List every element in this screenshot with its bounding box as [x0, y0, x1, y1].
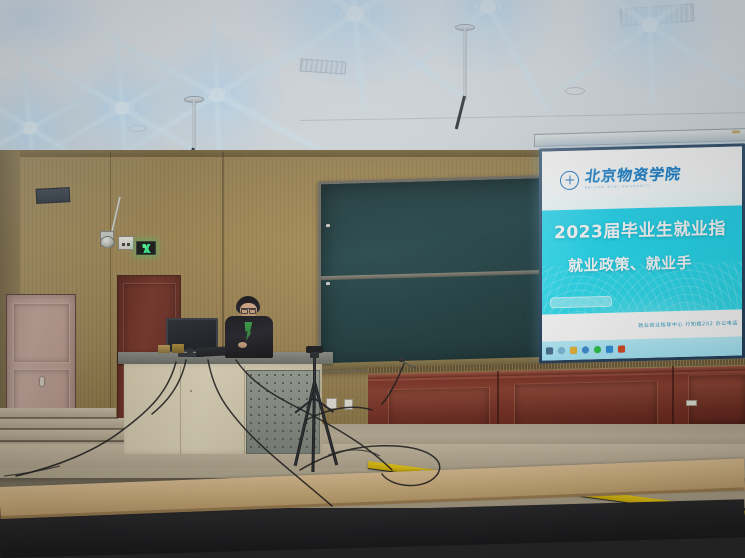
lecture-hall-photo: 北京物资学院 BEIJING WUZI UNIVERSITY 2023届毕业生就…	[0, 0, 745, 558]
slide-title: 2023届毕业生就业指	[554, 213, 742, 243]
presenter-glasses	[241, 308, 256, 312]
blackboard	[318, 175, 557, 373]
gooseneck-microphone	[398, 358, 418, 372]
podium-seam	[244, 366, 245, 454]
ceiling-downlight	[332, 2, 378, 26]
start-icon[interactable]	[546, 347, 553, 354]
ceiling-fixture-ring	[565, 87, 585, 95]
step-nosing	[0, 428, 134, 430]
podium-screw	[190, 390, 192, 392]
running-man-icon	[141, 244, 152, 253]
wall-speaker	[36, 187, 71, 204]
ceiling-downlight	[466, 0, 510, 18]
ceiling-downlight	[10, 118, 50, 138]
slide-caption-chip	[550, 296, 612, 309]
university-name-cn: 北京物资学院	[584, 167, 682, 185]
slide-footer-text: 就业创业指导中心 行知楼202 办公电话	[638, 320, 738, 330]
blackboard-chalk-rail	[321, 270, 554, 281]
wall-socket-plate	[118, 236, 134, 250]
folder-icon[interactable]	[606, 346, 613, 353]
wall-panel-joint	[110, 152, 111, 442]
wall-socket-plate	[344, 399, 353, 410]
projected-slide: 北京物资学院 BEIJING WUZI UNIVERSITY 2023届毕业生就…	[542, 146, 742, 360]
security-camera	[96, 231, 118, 249]
presenter-person	[224, 296, 274, 358]
ceiling-downlight	[628, 14, 672, 36]
presenter-hand	[238, 342, 247, 348]
slide-header: 北京物资学院 BEIJING WUZI UNIVERSITY	[542, 146, 742, 210]
desk-object	[172, 344, 184, 353]
ceiling-projector-mount	[455, 24, 475, 134]
explorer-icon[interactable]	[570, 347, 577, 354]
university-seal-icon	[560, 170, 579, 189]
search-icon[interactable]	[558, 347, 565, 354]
step-nosing	[0, 417, 118, 419]
ceiling-projector-mount	[184, 96, 204, 158]
wall-label-plate	[686, 400, 697, 406]
ceiling-downlight	[102, 98, 142, 118]
podium-seam	[180, 366, 181, 454]
desk-object	[158, 345, 170, 353]
powerpoint-icon[interactable]	[618, 346, 625, 353]
exit-sign	[136, 241, 156, 255]
slide-body: 2023届毕业生就业指 就业政策、就业手	[542, 205, 742, 315]
ceiling-fixture-ring	[128, 125, 146, 132]
projection-screen: 北京物资学院 BEIJING WUZI UNIVERSITY 2023届毕业生就…	[539, 143, 745, 363]
browser-icon[interactable]	[582, 346, 589, 353]
camera-tripod	[292, 346, 338, 470]
wechat-icon[interactable]	[594, 346, 601, 353]
windows-taskbar[interactable]	[542, 337, 742, 361]
